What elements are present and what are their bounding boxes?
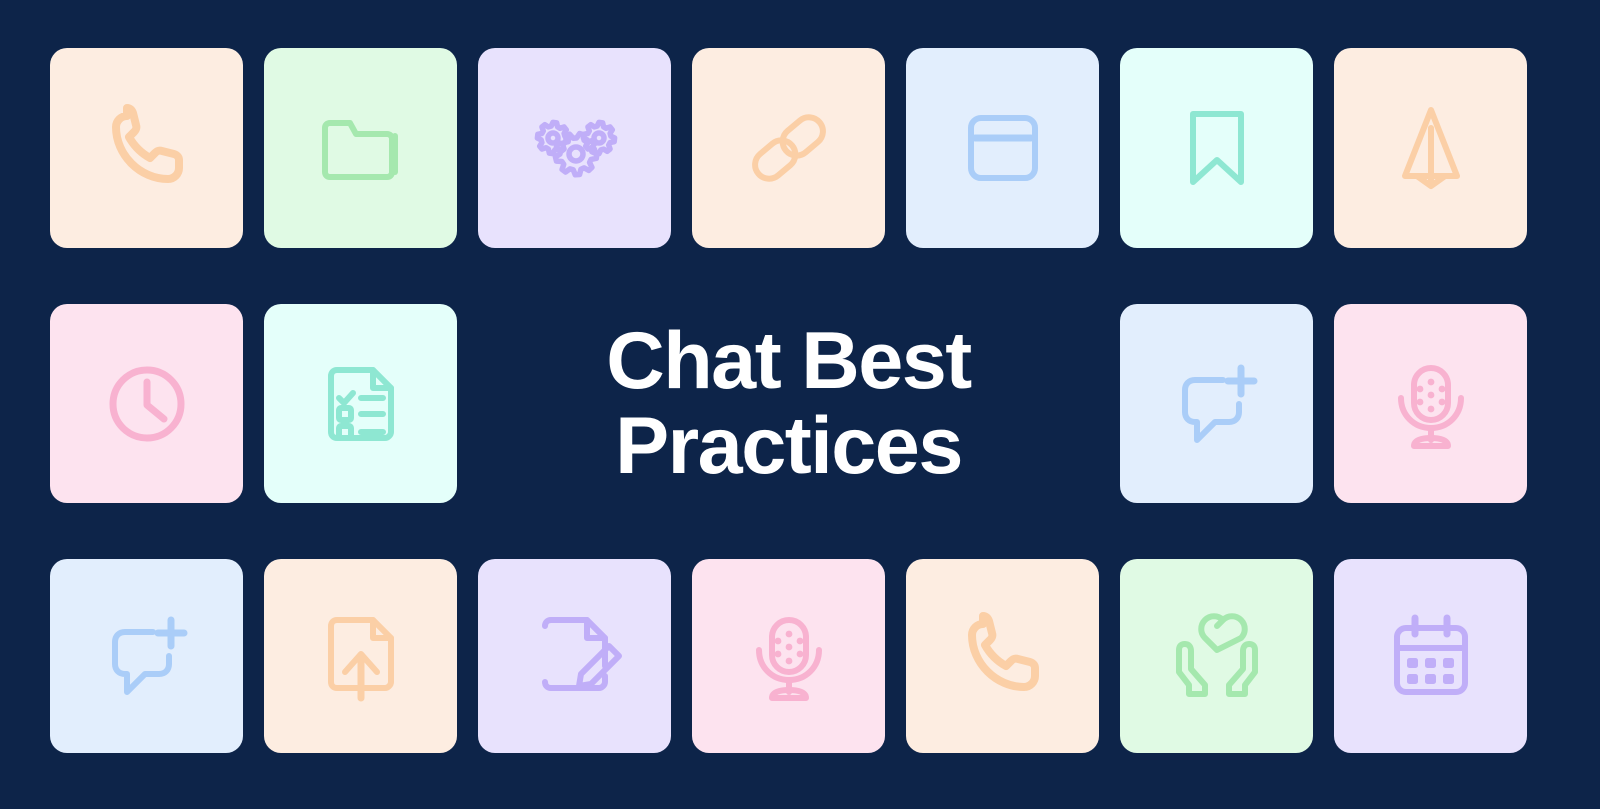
calendar-icon (1381, 606, 1481, 706)
clock-icon (97, 354, 197, 454)
icon-tile-folder[interactable] (264, 48, 457, 248)
chat-plus-icon (1167, 354, 1267, 454)
document-edit-icon (525, 606, 625, 706)
icon-tile-browser-window[interactable] (906, 48, 1099, 248)
icon-tile-paper-plane[interactable] (1334, 48, 1527, 248)
page-title: Chat Best Practices (606, 319, 971, 487)
icon-tile-chat-plus[interactable] (50, 559, 243, 753)
icon-tile-checklist[interactable] (264, 304, 457, 503)
icon-tile-microphone[interactable] (692, 559, 885, 753)
icon-tile-document-edit[interactable] (478, 559, 671, 753)
icon-tile-calendar[interactable] (1334, 559, 1527, 753)
poster-canvas: Chat Best Practices (0, 0, 1600, 809)
chat-plus-icon (97, 606, 197, 706)
microphone-icon (1381, 354, 1481, 454)
gears-icon (525, 98, 625, 198)
paper-plane-icon (1381, 98, 1481, 198)
icon-tile-bookmark[interactable] (1120, 48, 1313, 248)
icon-tile-hands-heart[interactable] (1120, 559, 1313, 753)
phone-icon (953, 606, 1053, 706)
browser-window-icon (953, 98, 1053, 198)
phone-icon (97, 98, 197, 198)
checklist-icon (311, 354, 411, 454)
icon-tile-grid: Chat Best Practices (50, 48, 1553, 747)
icon-tile-clock[interactable] (50, 304, 243, 503)
bookmark-icon (1167, 98, 1267, 198)
hands-heart-icon (1167, 606, 1267, 706)
file-upload-icon (311, 606, 411, 706)
title-block: Chat Best Practices (478, 304, 1099, 503)
icon-tile-link[interactable] (692, 48, 885, 248)
icon-tile-chat-plus[interactable] (1120, 304, 1313, 503)
icon-tile-microphone[interactable] (1334, 304, 1527, 503)
microphone-icon (739, 606, 839, 706)
icon-tile-phone[interactable] (906, 559, 1099, 753)
link-icon (739, 98, 839, 198)
icon-tile-file-upload[interactable] (264, 559, 457, 753)
icon-tile-gears[interactable] (478, 48, 671, 248)
icon-tile-phone[interactable] (50, 48, 243, 248)
folder-icon (311, 98, 411, 198)
